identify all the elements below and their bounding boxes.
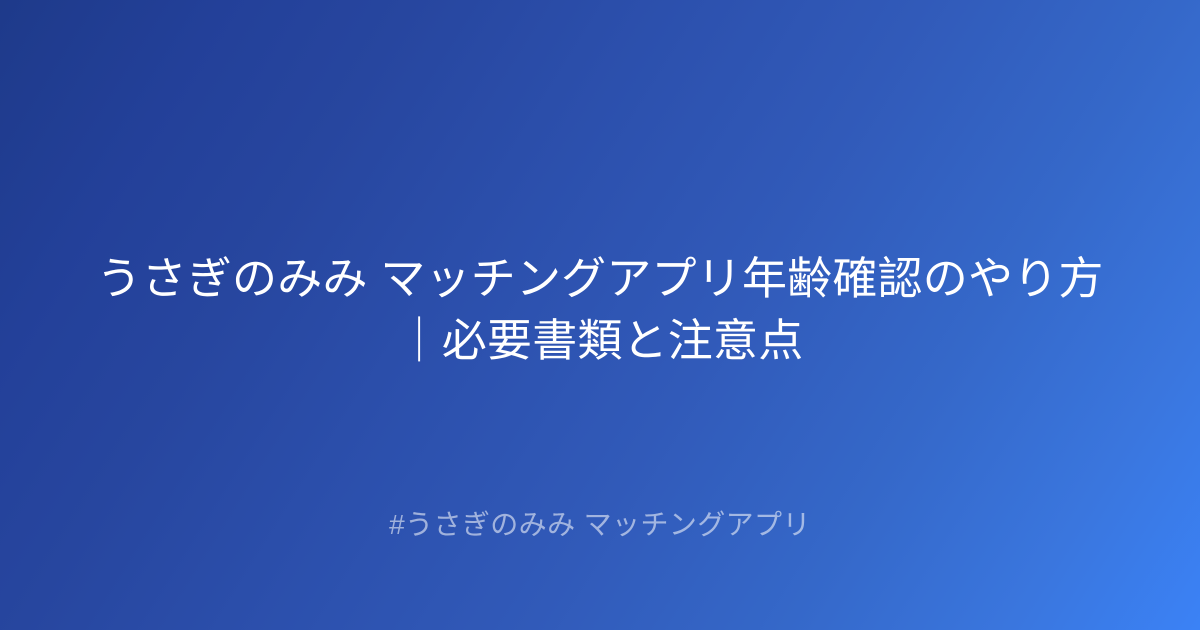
hashtag-label: #うさぎのみみ マッチングアプリ [60, 505, 1140, 545]
page-title: うさぎのみみ マッチングアプリ年齢確認のやり方 ｜必要書類と注意点 [60, 248, 1140, 372]
title-block: うさぎのみみ マッチングアプリ年齢確認のやり方 ｜必要書類と注意点 [0, 248, 1200, 372]
subtitle-block: #うさぎのみみ マッチングアプリ [0, 505, 1200, 545]
ogp-share-card: うさぎのみみ マッチングアプリ年齢確認のやり方 ｜必要書類と注意点 #うさぎのみ… [0, 0, 1200, 630]
